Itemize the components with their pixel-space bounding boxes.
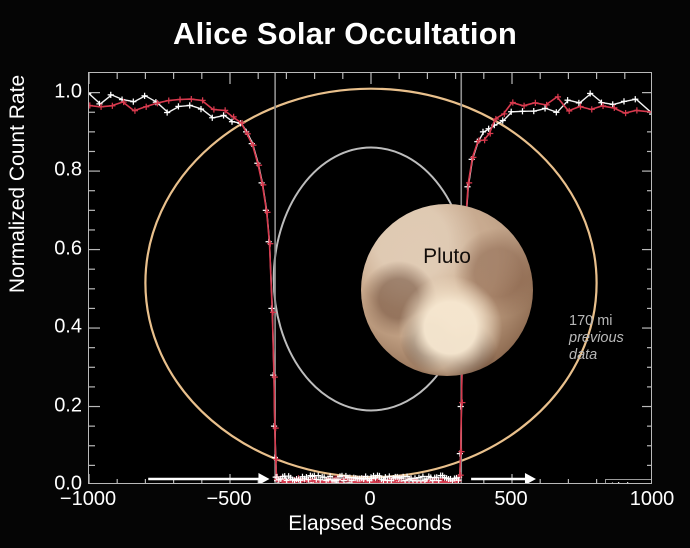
legend-item[interactable]: Lightcurve <box>611 481 652 484</box>
annotation-170mi-size: 170 mi <box>569 313 613 329</box>
y-tick-label: 0.2 <box>54 394 82 417</box>
y-tick-label: 0.8 <box>54 159 82 182</box>
x-tick-label: 500 <box>494 488 527 511</box>
x-tick-label: 0 <box>364 488 375 511</box>
x-axis-label: Elapsed Seconds <box>88 512 652 536</box>
annotation-170mi: 170 mi previous data <box>569 313 624 364</box>
legend-label: Lightcurve <box>611 481 652 484</box>
y-tick-label: 1.0 <box>54 80 82 103</box>
legend: LightcurveReversed <box>605 479 652 484</box>
annotation-170mi-line2: previous <box>569 330 624 346</box>
pluto-label: Pluto <box>361 245 533 269</box>
x-tick-label: −1000 <box>60 488 116 511</box>
y-tick-label: 0.6 <box>54 237 82 260</box>
y-axis-label: Normalized Count Rate <box>6 0 30 390</box>
x-axis-ticks: −1000−50005001000 <box>88 488 652 514</box>
y-tick-label: 0.4 <box>54 316 82 339</box>
x-tick-label: 1000 <box>630 488 675 511</box>
annotation-170mi-line3: data <box>569 347 597 363</box>
sunrise-arrow-head <box>525 473 536 484</box>
page-title: Alice Solar Occultation <box>0 16 690 52</box>
plot-area: Pluto 1000 mi New Horizons detection 170… <box>88 72 652 484</box>
chart-root: Alice Solar Occultation 0.00.20.40.60.81… <box>0 0 690 548</box>
sunset-arrow-head <box>258 473 269 484</box>
pluto-image <box>361 204 533 376</box>
x-tick-label: −500 <box>206 488 251 511</box>
